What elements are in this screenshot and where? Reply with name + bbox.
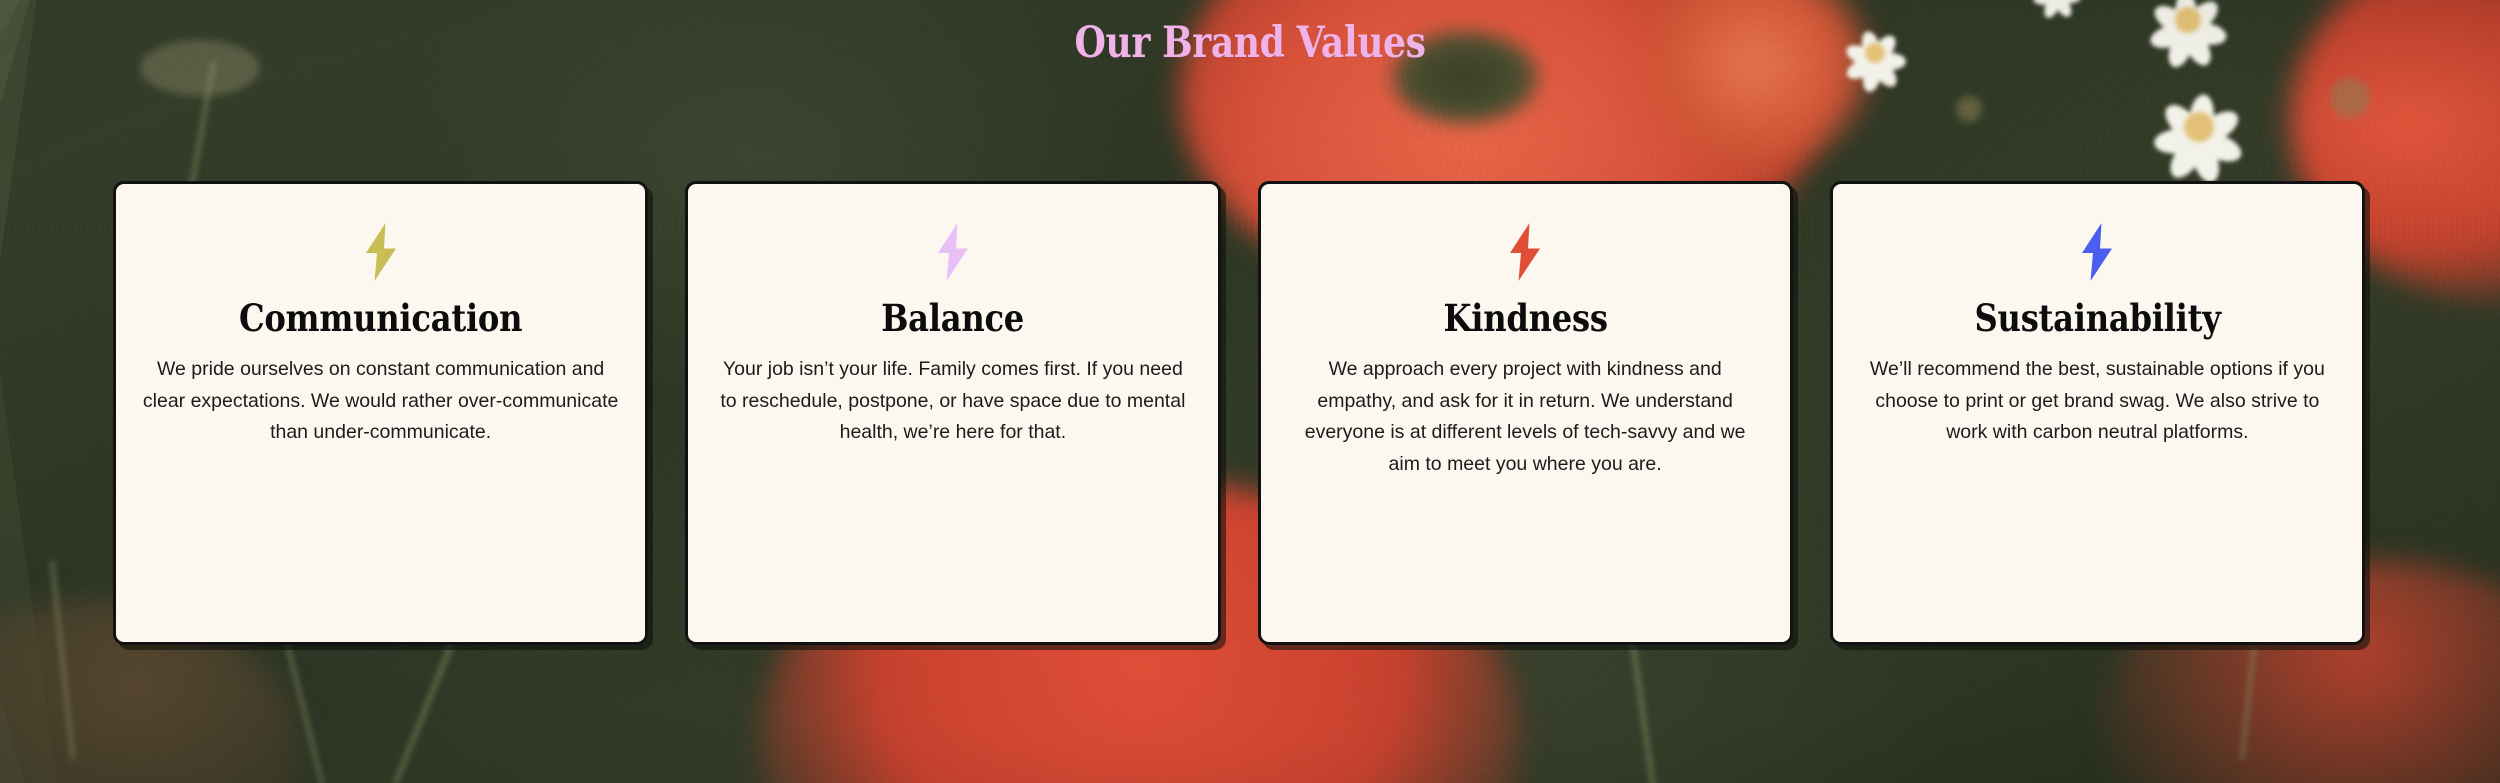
card-title: Kindness bbox=[1318, 296, 1733, 340]
values-card-grid: Communication We pride ourselves on cons… bbox=[113, 181, 2365, 645]
lightning-bolt-icon bbox=[1508, 223, 1542, 281]
card-body-text: We pride ourselves on constant communica… bbox=[142, 354, 619, 449]
card-icon-slot bbox=[714, 216, 1191, 288]
value-card-balance[interactable]: Balance Your job isn’t your life. Family… bbox=[685, 181, 1220, 645]
value-card-sustainability[interactable]: Sustainability We’ll recommend the best,… bbox=[1830, 181, 2365, 645]
card-body-text: Your job isn’t your life. Family comes f… bbox=[714, 354, 1191, 449]
card-icon-slot bbox=[1859, 216, 2336, 288]
card-icon-slot bbox=[1287, 216, 1764, 288]
lightning-bolt-icon bbox=[364, 223, 398, 281]
card-body-text: We’ll recommend the best, sustainable op… bbox=[1859, 354, 2336, 449]
card-title: Sustainability bbox=[1890, 296, 2305, 340]
brand-values-section: Our Brand Values Communication We pride … bbox=[0, 0, 2500, 783]
value-card-communication[interactable]: Communication We pride ourselves on cons… bbox=[113, 181, 648, 645]
value-card-kindness[interactable]: Kindness We approach every project with … bbox=[1258, 181, 1793, 645]
card-title: Communication bbox=[173, 296, 588, 340]
lightning-bolt-icon bbox=[936, 223, 970, 281]
card-body-text: We approach every project with kindness … bbox=[1287, 354, 1764, 480]
card-icon-slot bbox=[142, 216, 619, 288]
lightning-bolt-icon bbox=[2080, 223, 2114, 281]
page-title: Our Brand Values bbox=[200, 18, 2300, 68]
card-title: Balance bbox=[745, 296, 1160, 340]
